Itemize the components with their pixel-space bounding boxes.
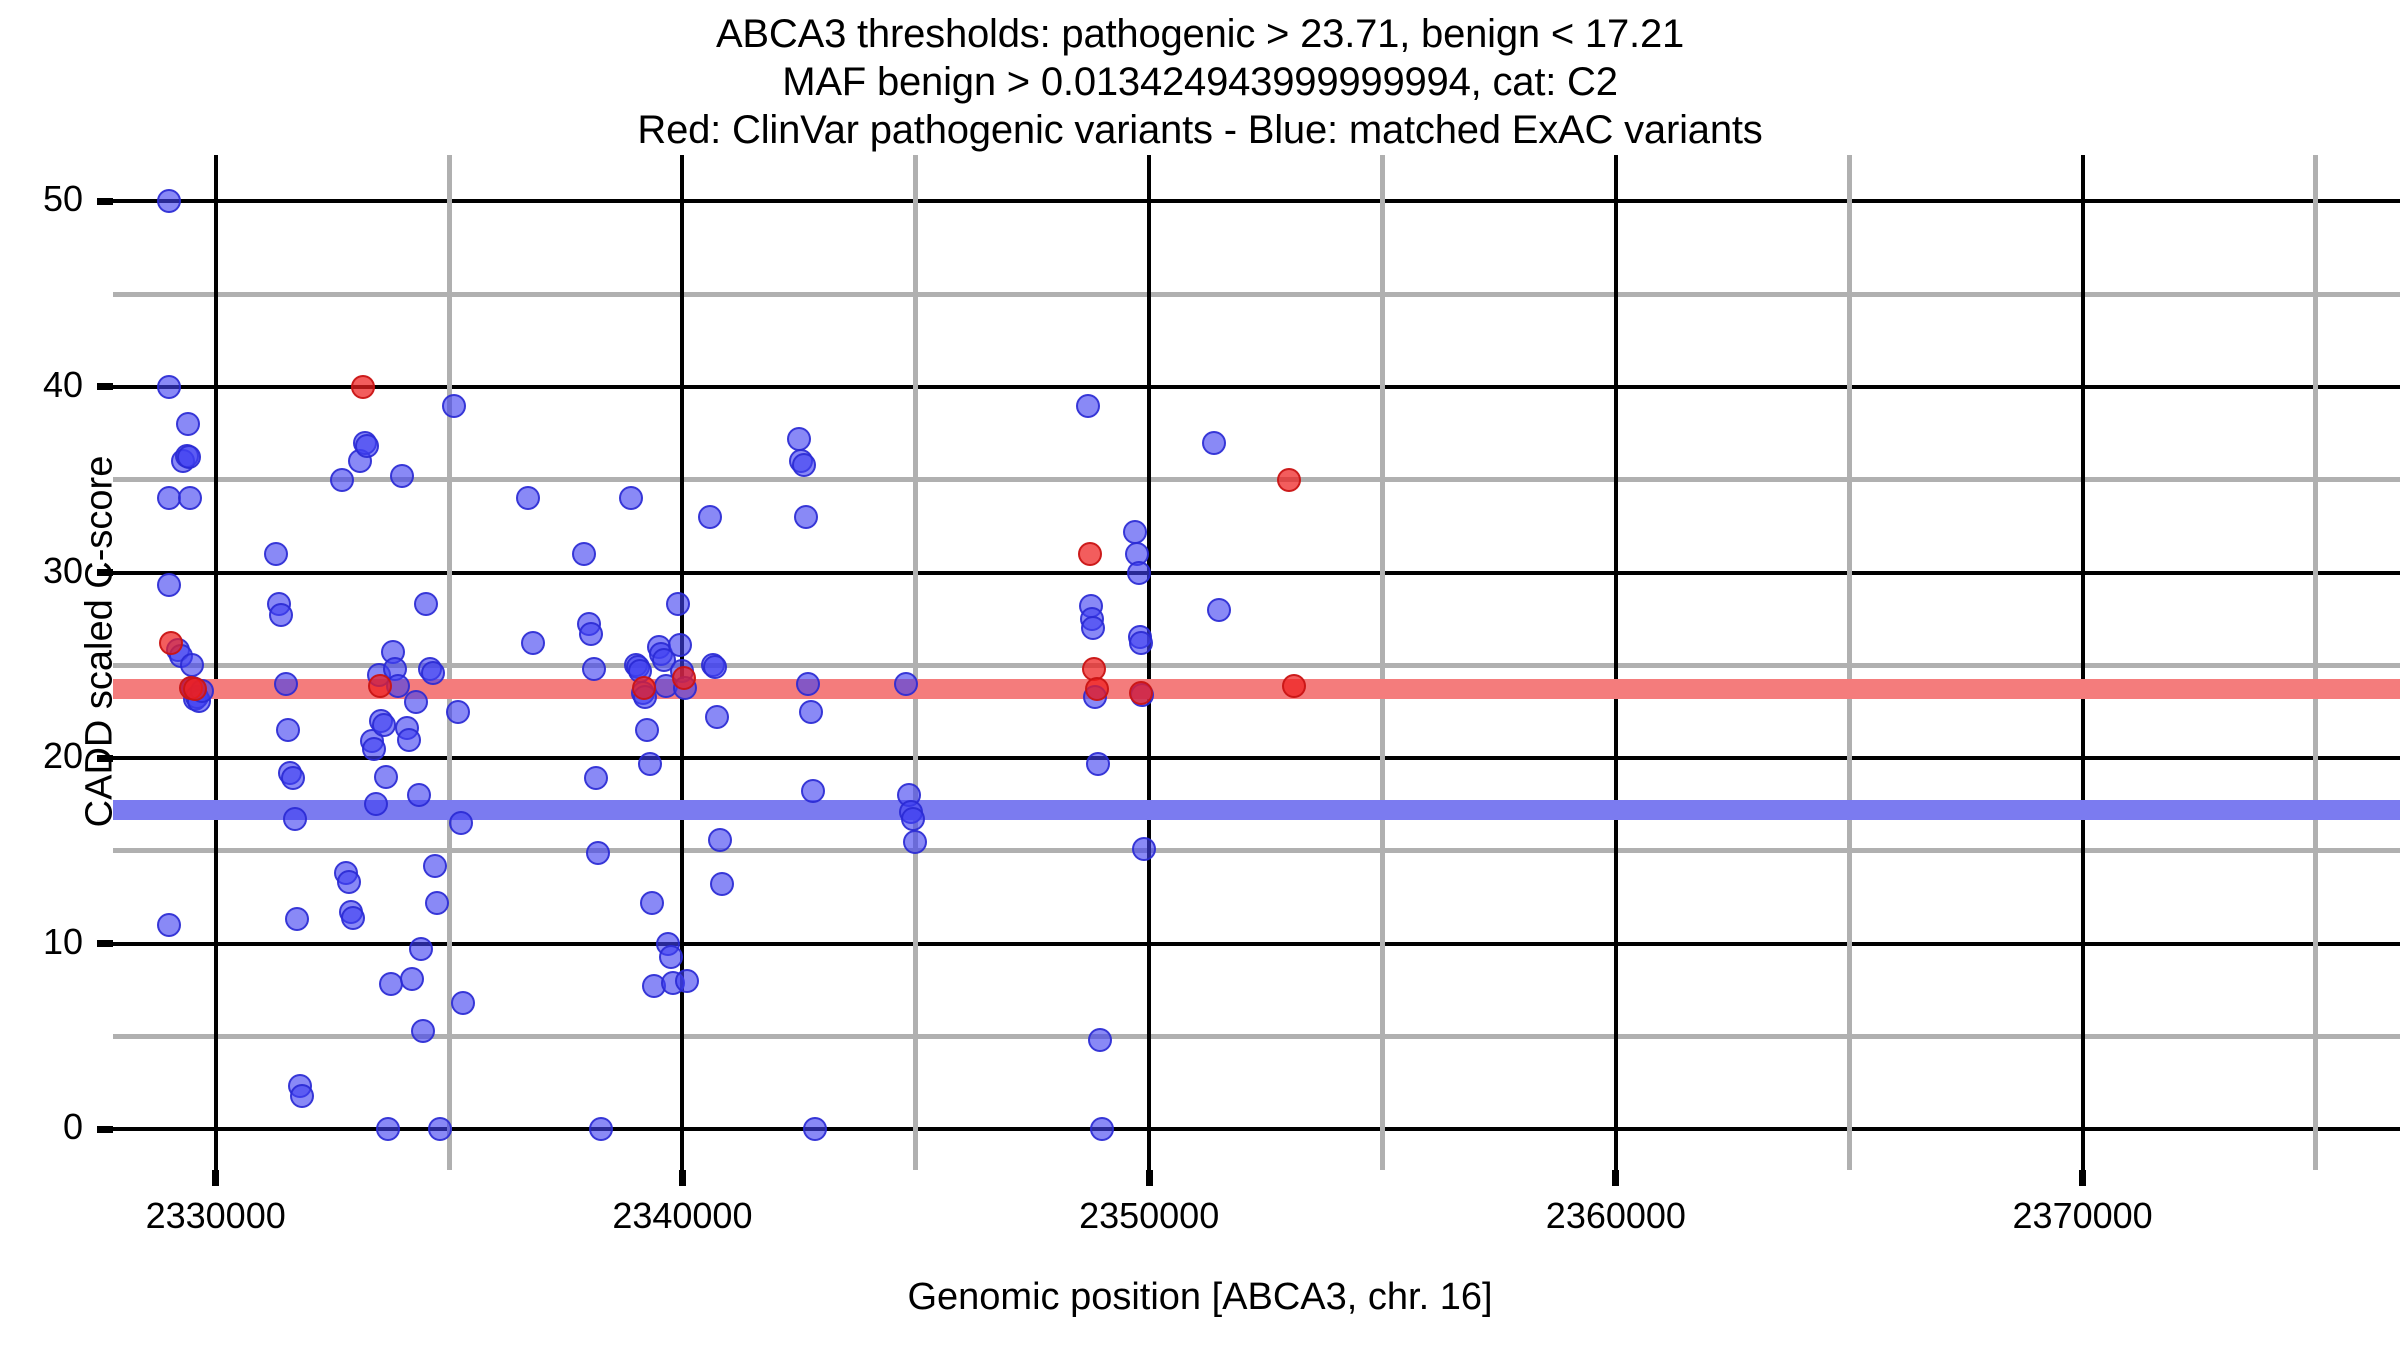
- scatter-point-exac: [1086, 752, 1110, 776]
- scatter-point-exac: [675, 969, 699, 993]
- scatter-point-exac: [1090, 1117, 1114, 1141]
- scatter-point-exac: [330, 468, 354, 492]
- scatter-point-exac: [792, 453, 816, 477]
- scatter-point-exac: [157, 189, 181, 213]
- gridline-vertical-minor: [1847, 155, 1852, 1170]
- scatter-point-exac: [659, 945, 683, 969]
- scatter-point-exac: [411, 1019, 435, 1043]
- scatter-point-exac: [635, 718, 659, 742]
- y-tick-mark: [97, 755, 113, 762]
- gridline-horizontal-major: [113, 1127, 2400, 1131]
- scatter-point-exac: [572, 542, 596, 566]
- scatter-point-exac: [589, 1117, 613, 1141]
- scatter-point-exac: [708, 828, 732, 852]
- scatter-point-exac: [1123, 520, 1147, 544]
- gridline-horizontal-minor: [113, 1034, 2400, 1039]
- scatter-point-exac: [705, 705, 729, 729]
- scatter-point-exac: [442, 394, 466, 418]
- gridline-horizontal-major: [113, 199, 2400, 203]
- scatter-point-exac: [1076, 394, 1100, 418]
- scatter-point-exac: [903, 830, 927, 854]
- scatter-point-pathogenic: [368, 674, 392, 698]
- scatter-point-pathogenic: [672, 666, 696, 690]
- scatter-point-exac: [516, 486, 540, 510]
- scatter-point-exac: [407, 783, 431, 807]
- scatter-point-exac: [799, 700, 823, 724]
- scatter-point-exac: [579, 622, 603, 646]
- y-tick-mark: [97, 940, 113, 947]
- x-tick-label: 2360000: [1466, 1195, 1766, 1237]
- scatter-point-exac: [409, 937, 433, 961]
- scatter-point-exac: [521, 631, 545, 655]
- scatter-point-exac: [698, 505, 722, 529]
- scatter-point-exac: [376, 1117, 400, 1141]
- scatter-point-exac: [274, 672, 298, 696]
- x-tick-label: 2350000: [999, 1195, 1299, 1237]
- chart-title-line-3: Red: ClinVar pathogenic variants - Blue:…: [0, 106, 2400, 154]
- scatter-point-exac: [157, 573, 181, 597]
- scatter-point-exac: [428, 1117, 452, 1141]
- scatter-point-exac: [1081, 616, 1105, 640]
- scatter-point-exac: [449, 811, 473, 835]
- scatter-point-exac: [157, 375, 181, 399]
- scatter-point-exac: [423, 854, 447, 878]
- scatter-point-exac: [421, 661, 445, 685]
- scatter-point-exac: [404, 690, 428, 714]
- x-tick-mark: [1146, 1170, 1153, 1186]
- scatter-point-exac: [390, 464, 414, 488]
- x-tick-mark: [212, 1170, 219, 1186]
- scatter-point-exac: [372, 713, 396, 737]
- gridline-horizontal-minor: [113, 848, 2400, 853]
- chart-title-line-2: MAF benign > 0.013424943999999994, cat: …: [0, 58, 2400, 106]
- y-tick-mark: [97, 1126, 113, 1133]
- x-tick-label: 2370000: [1933, 1195, 2233, 1237]
- x-tick-label: 2330000: [66, 1195, 366, 1237]
- scatter-point-exac: [283, 807, 307, 831]
- scatter-point-exac: [640, 891, 664, 915]
- scatter-point-exac: [1088, 1028, 1112, 1052]
- scatter-point-exac: [414, 592, 438, 616]
- scatter-point-exac: [668, 633, 692, 657]
- x-tick-mark: [2079, 1170, 2086, 1186]
- scatter-point-exac: [290, 1084, 314, 1108]
- gridline-horizontal-major: [113, 571, 2400, 575]
- scatter-point-exac: [638, 752, 662, 776]
- y-tick-label: 10: [0, 921, 83, 963]
- y-tick-mark: [97, 569, 113, 576]
- scatter-point-exac: [666, 592, 690, 616]
- scatter-point-exac: [710, 872, 734, 896]
- scatter-point-exac: [285, 907, 309, 931]
- scatter-point-exac: [1127, 561, 1151, 585]
- scatter-point-exac: [584, 766, 608, 790]
- gridline-vertical-minor: [447, 155, 452, 1170]
- gridline-vertical-major: [214, 155, 218, 1170]
- gridline-horizontal-major: [113, 385, 2400, 389]
- scatter-point-exac: [397, 728, 421, 752]
- scatter-point-pathogenic: [1282, 674, 1306, 698]
- scatter-point-exac: [177, 445, 201, 469]
- scatter-point-exac: [582, 657, 606, 681]
- scatter-point-exac: [176, 412, 200, 436]
- scatter-point-exac: [451, 991, 475, 1015]
- scatter-point-exac: [1129, 631, 1153, 655]
- scatter-point-exac: [264, 542, 288, 566]
- scatter-point-exac: [400, 967, 424, 991]
- scatter-point-exac: [157, 913, 181, 937]
- scatter-point-exac: [803, 1117, 827, 1141]
- scatter-point-exac: [425, 891, 449, 915]
- scatter-point-exac: [787, 427, 811, 451]
- scatter-point-exac: [619, 486, 643, 510]
- scatter-point-pathogenic: [351, 375, 375, 399]
- y-tick-label: 20: [0, 735, 83, 777]
- y-tick-mark: [97, 383, 113, 390]
- scatter-point-exac: [341, 906, 365, 930]
- x-tick-mark: [679, 1170, 686, 1186]
- y-tick-label: 40: [0, 364, 83, 406]
- y-tick-label: 50: [0, 178, 83, 220]
- gridline-vertical-major: [1614, 155, 1618, 1170]
- scatter-point-exac: [1202, 431, 1226, 455]
- scatter-point-pathogenic: [1277, 468, 1301, 492]
- scatter-point-pathogenic: [632, 676, 656, 700]
- gridline-horizontal-minor: [113, 477, 2400, 482]
- scatter-point-exac: [362, 737, 386, 761]
- x-tick-label: 2340000: [532, 1195, 832, 1237]
- scatter-point-exac: [180, 653, 204, 677]
- x-tick-mark: [1612, 1170, 1619, 1186]
- gridline-horizontal-minor: [113, 292, 2400, 297]
- scatter-point-exac: [337, 870, 361, 894]
- chart-title-line-1: ABCA3 thresholds: pathogenic > 23.71, be…: [0, 10, 2400, 58]
- y-tick-mark: [97, 198, 113, 205]
- gridline-vertical-major: [1147, 155, 1151, 1170]
- plot-area: [113, 155, 2400, 1170]
- x-axis-label: Genomic position [ABCA3, chr. 16]: [0, 1276, 2400, 1319]
- scatter-point-exac: [269, 603, 293, 627]
- scatter-point-exac: [374, 765, 398, 789]
- scatter-point-exac: [281, 766, 305, 790]
- gridline-vertical-major: [2081, 155, 2085, 1170]
- scatter-point-exac: [379, 972, 403, 996]
- scatter-point-exac: [901, 807, 925, 831]
- scatter-point-exac: [178, 486, 202, 510]
- chart-title: ABCA3 thresholds: pathogenic > 23.71, be…: [0, 10, 2400, 154]
- gridline-vertical-minor: [2313, 155, 2318, 1170]
- scatter-point-exac: [446, 700, 470, 724]
- gridline-vertical-minor: [913, 155, 918, 1170]
- scatter-point-exac: [586, 841, 610, 865]
- scatter-point-exac: [794, 505, 818, 529]
- scatter-point-exac: [1207, 598, 1231, 622]
- chart-figure: ABCA3 thresholds: pathogenic > 23.71, be…: [0, 0, 2400, 1350]
- scatter-point-exac: [1132, 837, 1156, 861]
- y-tick-label: 30: [0, 550, 83, 592]
- scatter-point-exac: [355, 434, 379, 458]
- gridline-horizontal-major: [113, 756, 2400, 760]
- scatter-point-pathogenic: [1078, 542, 1102, 566]
- gridline-vertical-minor: [1380, 155, 1385, 1170]
- scatter-point-exac: [703, 655, 727, 679]
- gridline-horizontal-minor: [113, 663, 2400, 668]
- gridline-horizontal-major: [113, 942, 2400, 946]
- y-tick-label: 0: [0, 1106, 83, 1148]
- scatter-point-exac: [276, 718, 300, 742]
- pathogenic-threshold-band: [113, 679, 2400, 699]
